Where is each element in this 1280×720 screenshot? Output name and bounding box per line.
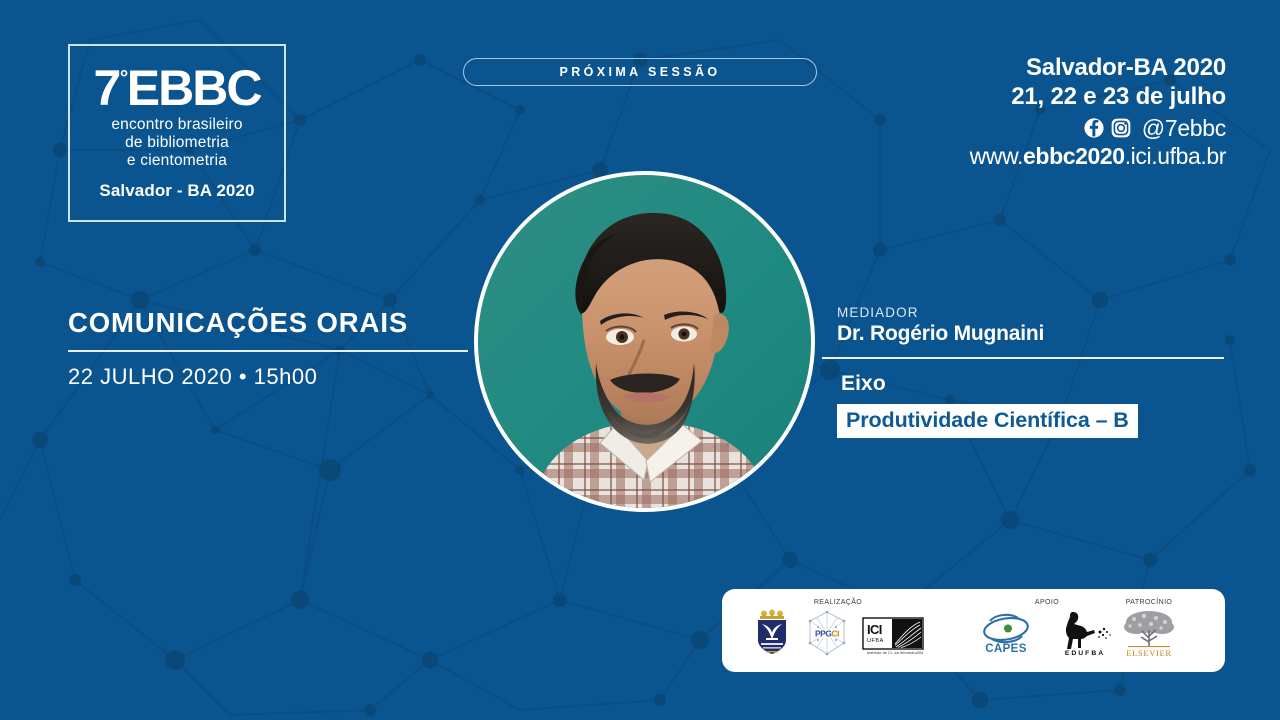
event-info-block: Salvador-BA 2020 21, 22 e 23 de julho @7… bbox=[970, 54, 1226, 170]
session-divider bbox=[68, 350, 468, 352]
sponsor-group-apoio: APOIO CAPES bbox=[978, 599, 1116, 661]
sponsor-caption-apoio: APOIO bbox=[1035, 599, 1059, 606]
website-prefix: www. bbox=[970, 143, 1023, 169]
logo-city-year: Salvador - BA 2020 bbox=[99, 181, 254, 201]
svg-text:ELSEVIER: ELSEVIER bbox=[1126, 648, 1171, 658]
sponsor-caption-patrocinio: PATROCÍNIO bbox=[1126, 599, 1173, 606]
topic-label: Eixo bbox=[841, 372, 1224, 396]
svg-text:Instituto de Ci. da Informa\u0: Instituto de Ci. da Informa\u00e7\u00e3o bbox=[867, 651, 924, 655]
sponsor-logos-patrocinio: ELSEVIER bbox=[1118, 608, 1180, 663]
sponsor-logos-realizacao: PPGCI ICI UFBA bbox=[752, 608, 924, 661]
svg-text:ICI: ICI bbox=[867, 622, 882, 637]
instagram-icon[interactable] bbox=[1111, 118, 1131, 138]
next-session-badge-label: PRÓXIMA SESSÃO bbox=[559, 65, 720, 79]
event-website[interactable]: www.ebbc2020.ici.ufba.br bbox=[970, 143, 1226, 170]
mediator-name: Dr. Rogério Mugnaini bbox=[837, 322, 1224, 346]
sponsor-group-patrocinio: PATROCÍNIO bbox=[1118, 599, 1180, 663]
sponsor-group-realizacao: REALIZAÇÃO bbox=[752, 599, 924, 661]
session-datetime: 22 JULHO 2020 • 15h00 bbox=[68, 364, 468, 390]
social-handle[interactable]: @7ebbc bbox=[1142, 115, 1226, 142]
svg-text:EDUFBA: EDUFBA bbox=[1065, 650, 1105, 656]
capes-logo[interactable]: CAPES bbox=[978, 610, 1034, 661]
speaker-portrait-photo bbox=[478, 175, 811, 508]
sponsor-logos-apoio: CAPES EDUFBA bbox=[978, 608, 1116, 661]
session-details-block: COMUNICAÇÕES ORAIS 22 JULHO 2020 • 15h00 bbox=[68, 307, 468, 390]
mediator-label: MEDIADOR bbox=[837, 305, 1224, 320]
logo-edition-number: 7 bbox=[94, 65, 120, 113]
sponsor-bar: REALIZAÇÃO bbox=[722, 589, 1225, 672]
facebook-icon[interactable] bbox=[1084, 118, 1104, 138]
website-domain: ebbc2020 bbox=[1023, 143, 1125, 169]
next-session-badge: PRÓXIMA SESSÃO bbox=[463, 58, 817, 86]
svg-text:PPGCI: PPGCI bbox=[815, 628, 839, 638]
event-location-year: Salvador-BA 2020 bbox=[970, 54, 1226, 82]
presentation-slide: 7°EBBC encontro brasileiro de bibliometr… bbox=[0, 0, 1280, 720]
ici-ufba-logo[interactable]: ICI UFBA Instituto de Ci. da Informa\u00… bbox=[862, 616, 924, 661]
logo-title-row: 7°EBBC bbox=[94, 65, 261, 113]
topic-value-highlight: Produtividade Científica – B bbox=[837, 404, 1138, 438]
edufba-logo[interactable]: EDUFBA bbox=[1054, 608, 1116, 661]
session-type-title: COMUNICAÇÕES ORAIS bbox=[68, 307, 468, 339]
logo-subtitle-line-2: de bibliometria bbox=[111, 134, 242, 152]
ufba-logo[interactable] bbox=[752, 608, 792, 661]
mediator-divider bbox=[822, 357, 1224, 359]
website-suffix: .ici.ufba.br bbox=[1125, 143, 1226, 169]
mediator-topic-block: MEDIADOR Dr. Rogério Mugnaini Eixo Produ… bbox=[822, 305, 1224, 438]
speaker-portrait bbox=[474, 171, 815, 512]
ebbc-event-logo: 7°EBBC encontro brasileiro de bibliometr… bbox=[68, 44, 286, 222]
elsevier-logo[interactable]: ELSEVIER bbox=[1118, 608, 1180, 663]
logo-subtitle-line-1: encontro brasileiro bbox=[111, 116, 242, 134]
event-dates: 21, 22 e 23 de julho bbox=[970, 83, 1226, 111]
social-links-row: @7ebbc bbox=[970, 115, 1226, 142]
svg-text:UFBA: UFBA bbox=[867, 638, 884, 644]
logo-degree-symbol: ° bbox=[120, 68, 127, 89]
logo-subtitle-line-3: e cientometria bbox=[111, 152, 242, 170]
sponsor-caption-realizacao: REALIZAÇÃO bbox=[814, 599, 862, 606]
ppgci-logo[interactable]: PPGCI bbox=[804, 610, 850, 661]
svg-text:CAPES: CAPES bbox=[985, 643, 1027, 655]
logo-acronym: EBBC bbox=[127, 65, 261, 113]
logo-subtitle: encontro brasileiro de bibliometria e ci… bbox=[111, 116, 242, 170]
